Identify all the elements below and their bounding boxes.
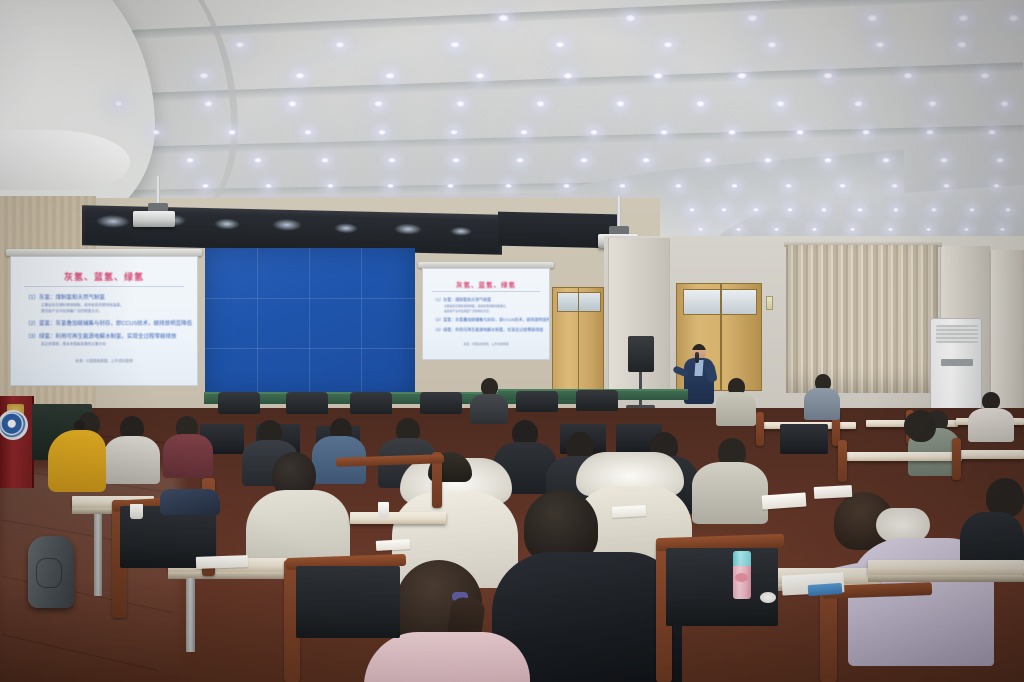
projector-pole bbox=[617, 196, 621, 228]
audience-torso bbox=[104, 436, 160, 484]
executive-chair bbox=[420, 392, 462, 414]
ac-label bbox=[941, 359, 973, 366]
ceiling-downlight bbox=[304, 130, 312, 135]
smartphone bbox=[808, 583, 843, 596]
seat-back bbox=[666, 548, 778, 626]
ceiling-downlight bbox=[958, 15, 969, 22]
audience-torso bbox=[716, 392, 756, 426]
ceiling-downlight bbox=[875, 42, 885, 48]
ceiling-downlight bbox=[1000, 101, 1009, 107]
window-curtain bbox=[786, 245, 938, 393]
slide-line: 是目前产业中应用最广泛的制氢方式。 bbox=[444, 309, 549, 313]
ceiling-downlight bbox=[228, 130, 236, 135]
slide-line: 真正的零碳，是未来氢能发展的主要方向 bbox=[41, 342, 197, 347]
desk-leg bbox=[94, 512, 102, 596]
student-desk bbox=[960, 450, 1024, 459]
audience-torso bbox=[804, 388, 840, 420]
ceiling-downlight bbox=[555, 42, 565, 48]
ceiling-downlight bbox=[785, 184, 792, 188]
ceiling-downlight bbox=[202, 184, 209, 188]
ceiling-downlight bbox=[625, 15, 636, 22]
projector-pole bbox=[156, 176, 160, 206]
ceiling-downlight bbox=[254, 158, 262, 163]
ceiling-downlight bbox=[996, 158, 1004, 163]
ceiling-downlight bbox=[295, 73, 305, 79]
ceiling-downlight bbox=[737, 73, 747, 79]
ceiling-downlight bbox=[943, 184, 950, 188]
ceiling-downlight bbox=[563, 184, 570, 188]
tissue bbox=[760, 592, 776, 603]
slide-line: 是目前产业中应用最广泛的制氢方式。 bbox=[41, 309, 197, 314]
ceiling-downlight bbox=[824, 158, 832, 163]
slide-footer: 来源：中国氢能联盟、公开资料整理 bbox=[11, 359, 197, 364]
ceiling-downlight bbox=[980, 73, 990, 79]
desk-edge bbox=[868, 575, 1024, 582]
ceiling-downlight bbox=[265, 184, 272, 188]
wall-panel bbox=[990, 250, 1024, 408]
auditorium-seat[interactable] bbox=[820, 588, 837, 682]
audience-torso bbox=[48, 430, 106, 492]
loudspeaker bbox=[628, 336, 654, 372]
ceiling-downlight bbox=[152, 130, 160, 135]
bottle-label bbox=[735, 573, 748, 582]
ceiling-downlight bbox=[728, 130, 736, 135]
ceiling-downlight bbox=[456, 101, 465, 107]
ceiling-downlight bbox=[653, 73, 663, 79]
stage-door-left[interactable] bbox=[552, 287, 604, 392]
ceiling-downlight bbox=[327, 184, 334, 188]
ceiling-downlight bbox=[114, 101, 123, 107]
seat-back bbox=[780, 424, 828, 454]
slide-line: （1）灰氢：煤制氢和天然气制氢 bbox=[25, 293, 197, 301]
audience-torso bbox=[163, 434, 213, 478]
right-projection-screen: 灰氢、蓝氢、绿氢 （1）灰氢：煤制氢和天然气制氢 主要由化石燃料燃烧制取，成本较… bbox=[422, 268, 550, 360]
ceiling-downlight bbox=[387, 184, 394, 188]
ceiling-downlight bbox=[854, 101, 863, 107]
notebook-paper bbox=[814, 485, 853, 499]
backpack bbox=[28, 536, 74, 608]
ceiling-downlight bbox=[498, 15, 509, 22]
ceiling-downlight bbox=[204, 101, 213, 107]
ceiling-downlight bbox=[926, 130, 934, 135]
air-conditioner[interactable] bbox=[930, 318, 982, 418]
ceiling-downlight bbox=[957, 42, 967, 48]
ceiling-downlight bbox=[505, 184, 512, 188]
ceiling-downlight bbox=[993, 184, 1000, 188]
ceiling-downlight bbox=[747, 15, 758, 22]
ceiling-downlight bbox=[642, 158, 650, 163]
ceiling-downlight bbox=[767, 42, 777, 48]
slide-footer: 来源：中国氢能联盟、公开资料整理 bbox=[423, 342, 549, 346]
student-desk bbox=[868, 560, 1024, 575]
student-desk bbox=[350, 512, 446, 524]
ceiling-downlight bbox=[731, 184, 738, 188]
slide-line: （2）蓝氢：灰氢叠加碳捕集与封存，即CCUS技术，碳排放明显降低 bbox=[433, 317, 549, 323]
ceiling-downlight bbox=[764, 158, 772, 163]
bottle-cap bbox=[733, 551, 751, 566]
ceiling-downlight bbox=[663, 42, 673, 48]
audience-torso bbox=[692, 462, 768, 524]
ceiling-downlight bbox=[452, 158, 460, 163]
ceiling-downlight bbox=[385, 73, 395, 79]
ceiling-downlight bbox=[616, 101, 625, 107]
executive-chair bbox=[286, 392, 328, 414]
ceiling-downlight bbox=[891, 184, 898, 188]
ceiling-downlight bbox=[516, 158, 524, 163]
ceiling-downlight bbox=[903, 73, 913, 79]
fur-collar bbox=[876, 508, 930, 542]
executive-chair bbox=[576, 390, 618, 411]
ceiling-downlight bbox=[186, 158, 194, 163]
notebook-paper bbox=[196, 555, 248, 569]
thermos-bottle bbox=[733, 551, 751, 599]
slide-title: 灰氢、蓝氢、绿氢 bbox=[423, 279, 549, 289]
slide-line: 主要由化石燃料燃烧制取，成本较低但碳排放量高， bbox=[444, 304, 549, 308]
left-screen-case bbox=[6, 249, 202, 256]
slide-line: （3）绿氢：利用可再生能源电解水制氢，实现全过程零碳排放 bbox=[433, 327, 549, 333]
ceiling-downlight bbox=[447, 184, 454, 188]
door-window bbox=[557, 292, 601, 312]
ceiling-downlight bbox=[335, 42, 345, 48]
ceiling-downlight bbox=[928, 101, 937, 107]
ceiling-downlight bbox=[199, 73, 209, 79]
led-video-wall bbox=[205, 248, 415, 398]
executive-chair bbox=[350, 392, 392, 414]
ceiling-downlight bbox=[378, 130, 386, 135]
wall-sign bbox=[766, 296, 773, 310]
front-left-projector bbox=[133, 211, 175, 227]
backpack-pocket bbox=[36, 558, 62, 588]
audience-torso bbox=[470, 394, 508, 424]
ceiling-downlight bbox=[1008, 15, 1019, 22]
ceiling-downlight bbox=[450, 130, 458, 135]
student-desk bbox=[842, 452, 962, 461]
auditorium-seat bbox=[838, 440, 847, 482]
ceiling-downlight bbox=[839, 184, 846, 188]
ceiling-downlight bbox=[776, 101, 785, 107]
ceiling-downlight bbox=[940, 158, 948, 163]
slide-line: （1）灰氢：煤制氢和天然气制氢 bbox=[433, 297, 549, 303]
left-projection-screen: 灰氢、蓝氢、绿氢 （1）灰氢：煤制氢和天然气制氢 主要由化石燃料燃烧制取，成本较… bbox=[10, 256, 198, 386]
ceiling-downlight bbox=[374, 101, 383, 107]
slide-line: （2）蓝氢：灰氢叠加碳捕集与封存，即CCUS技术，碳排放明显降低 bbox=[25, 319, 197, 327]
ceiling-downlight bbox=[520, 130, 528, 135]
executive-chair bbox=[218, 392, 260, 414]
auditorium-seat bbox=[756, 412, 764, 446]
ac-vent-icon bbox=[936, 325, 978, 343]
notebook-paper bbox=[612, 505, 647, 518]
slide-line: （3）绿氢：利用可再生能源电解水制氢，实现全过程零碳排放 bbox=[25, 332, 197, 340]
audience-torso bbox=[968, 408, 1014, 442]
ceiling-downlight bbox=[536, 101, 545, 107]
lecture-hall-photo: 灰氢、蓝氢、绿氢 （1）灰氢：煤制氢和天然气制氢 主要由化石燃料燃烧制取，成本较… bbox=[0, 0, 1024, 682]
ceiling-downlight bbox=[675, 184, 682, 188]
ceiling-downlight bbox=[696, 101, 705, 107]
ceiling-downlight bbox=[288, 101, 297, 107]
seat-back bbox=[296, 566, 400, 638]
notebook-paper bbox=[376, 539, 410, 551]
paper-cup bbox=[378, 502, 389, 518]
ceiling-downlight bbox=[563, 73, 573, 79]
shoulder-bag bbox=[160, 489, 220, 515]
paper-cup bbox=[130, 504, 143, 519]
ceiling-downlight bbox=[619, 184, 626, 188]
ceiling-downlight bbox=[867, 15, 878, 22]
ceiling-downlight bbox=[580, 158, 588, 163]
executive-chair bbox=[516, 391, 558, 412]
ceiling-downlight bbox=[590, 130, 598, 135]
microphone bbox=[695, 352, 699, 363]
ceiling-downlight bbox=[988, 130, 996, 135]
ceiling-downlight bbox=[704, 158, 712, 163]
ceiling-downlight bbox=[823, 73, 833, 79]
ceiling-downlight bbox=[882, 158, 890, 163]
auditorium-seat bbox=[952, 438, 961, 480]
slide-title: 灰氢、蓝氢、绿氢 bbox=[11, 270, 197, 283]
ceiling-downlight bbox=[388, 158, 396, 163]
audience-torso bbox=[364, 632, 530, 682]
slide-line: 主要由化石燃料燃烧制取，成本较低但碳排放量高， bbox=[41, 303, 197, 308]
ceiling-downlight bbox=[450, 42, 460, 48]
desk-leg bbox=[186, 578, 195, 652]
ceiling-downlight bbox=[660, 130, 668, 135]
ceiling-downlight bbox=[862, 130, 870, 135]
ceiling-downlight bbox=[475, 73, 485, 79]
ceiling-downlight bbox=[321, 158, 329, 163]
ceiling-downlight bbox=[235, 42, 245, 48]
audience-head bbox=[906, 410, 936, 442]
ceiling-downlight bbox=[796, 130, 804, 135]
